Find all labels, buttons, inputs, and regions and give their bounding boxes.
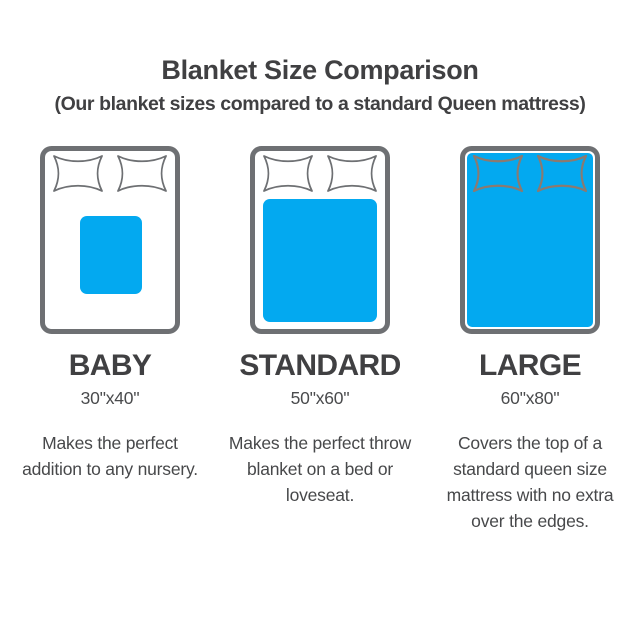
size-description-large: Covers the top of a standard queen size …: [437, 409, 623, 534]
size-name-standard: STANDARD: [239, 334, 400, 383]
pillow-right-icon: [118, 156, 166, 191]
size-comparison-columns: BABY 30"x40" Makes the perfect addition …: [0, 146, 640, 534]
size-description-baby: Makes the perfect addition to any nurser…: [17, 409, 203, 482]
pillow-right-icon: [328, 156, 376, 191]
size-name-baby: BABY: [69, 334, 152, 383]
bed-diagram-baby: [40, 146, 180, 334]
size-dimensions-baby: 30"x40": [81, 383, 140, 409]
infographic-header: Blanket Size Comparison (Our blanket siz…: [0, 0, 640, 116]
bed-diagram-standard: [250, 146, 390, 334]
blanket-area: [263, 199, 377, 322]
size-description-standard: Makes the perfect throw blanket on a bed…: [227, 409, 413, 508]
size-column-standard: STANDARD 50"x60" Makes the perfect throw…: [222, 146, 418, 534]
page-title: Blanket Size Comparison: [0, 0, 640, 86]
page-subtitle: (Our blanket sizes compared to a standar…: [0, 86, 640, 116]
size-dimensions-standard: 50"x60": [291, 383, 350, 409]
size-column-baby: BABY 30"x40" Makes the perfect addition …: [12, 146, 208, 534]
bed-diagram-large: [460, 146, 600, 334]
size-dimensions-large: 60"x80": [501, 383, 560, 409]
blanket-area: [80, 216, 142, 294]
size-name-large: LARGE: [479, 334, 581, 383]
size-column-large: LARGE 60"x80" Covers the top of a standa…: [432, 146, 628, 534]
pillow-left-icon: [54, 156, 102, 191]
pillow-left-icon: [264, 156, 312, 191]
blanket-area: [467, 153, 593, 327]
